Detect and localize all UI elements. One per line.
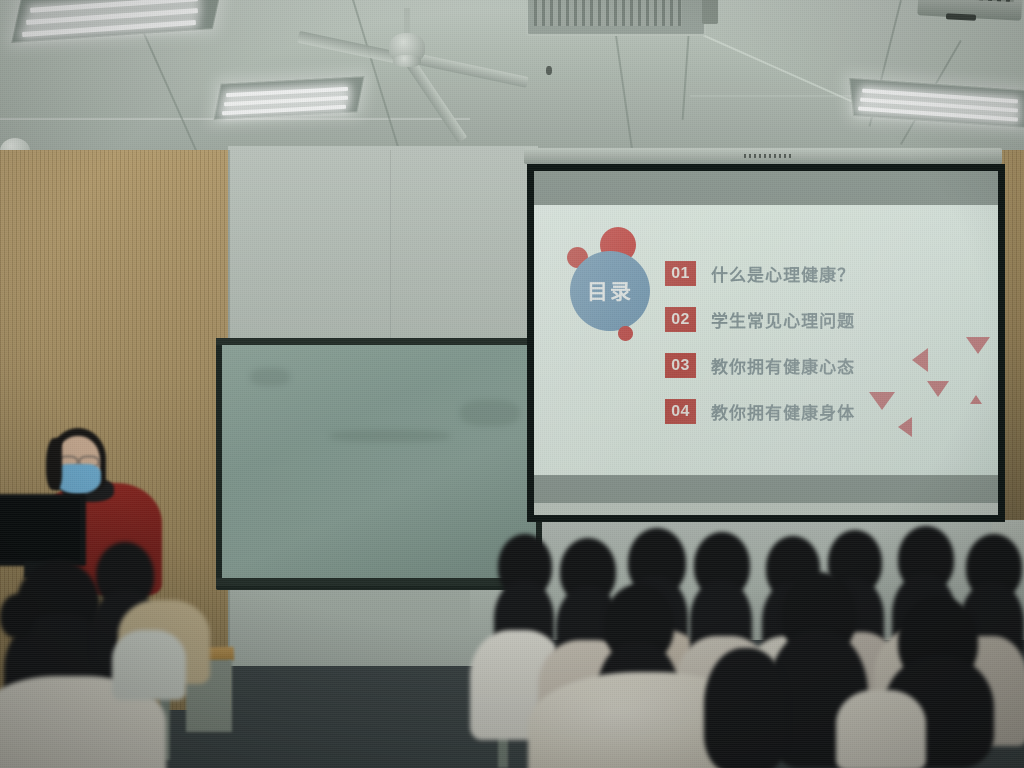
- decor-triangle: [869, 392, 895, 410]
- presentation-slide: 目录 01 什么是心理健康？ 02 学生常见心理问题 03 教你拥有健康心态 0…: [534, 205, 998, 475]
- toc-item-number: 03: [665, 353, 696, 378]
- blackboard-smudge: [250, 368, 290, 386]
- classroom-scene: 目录 01 什么是心理健康？ 02 学生常见心理问题 03 教你拥有健康心态 0…: [0, 0, 1024, 768]
- toc-item-number: 02: [665, 307, 696, 332]
- monitor-screen: [0, 498, 80, 560]
- audience-body: [836, 690, 926, 768]
- blackboard-top-rail: [216, 338, 542, 345]
- audience-body: [112, 630, 186, 700]
- toc-item-row[interactable]: 01 什么是心理健康？: [665, 261, 855, 286]
- toc-item-label: 教你拥有健康心态: [711, 353, 855, 378]
- decor-triangle: [927, 381, 949, 397]
- screen-letterbox-bottom: [534, 475, 998, 503]
- toc-item-label: 教你拥有健康身体: [711, 399, 855, 424]
- toc-item-label: 什么是心理健康？: [711, 261, 855, 286]
- toc-item-row[interactable]: 02 学生常见心理问题: [665, 307, 855, 332]
- toc-heading-text: 目录: [587, 276, 633, 306]
- chalk-rail: [216, 578, 542, 586]
- toc-item-row[interactable]: 04 教你拥有健康身体: [665, 399, 855, 424]
- audience-head: [0, 594, 34, 638]
- roller-bracket-icon: [744, 154, 792, 158]
- audience-hair: [704, 648, 788, 768]
- wall-seam: [390, 150, 391, 340]
- toc-item-row[interactable]: 03 教你拥有健康心态: [665, 353, 855, 378]
- blackboard-smudge: [460, 400, 520, 426]
- air-conditioner-side-vent: [702, 0, 718, 24]
- decor-triangle: [912, 348, 928, 372]
- toc-item-number: 01: [665, 261, 696, 286]
- blackboard-smudge: [330, 430, 450, 442]
- decor-triangle: [970, 395, 982, 404]
- screen-bottom-edge: [534, 503, 998, 515]
- toc-item-number: 04: [665, 399, 696, 424]
- air-conditioner-grill: [534, 0, 682, 26]
- ceiling-fan-hub: [393, 55, 421, 67]
- screen-roller-housing: [524, 148, 1002, 164]
- decor-triangle: [898, 417, 912, 437]
- toc-item-label: 学生常见心理问题: [711, 307, 855, 332]
- decor-triangle: [966, 337, 990, 354]
- toc-heading-circle: 目录: [570, 251, 650, 331]
- ceiling-sensor-icon: [546, 66, 552, 75]
- presenter-hair-side: [46, 438, 62, 490]
- projector-screen-surface: 目录 01 什么是心理健康？ 02 学生常见心理问题 03 教你拥有健康心态 0…: [534, 171, 998, 515]
- screen-letterbox-top: [534, 171, 998, 205]
- decor-dot-small-bottom: [618, 326, 633, 341]
